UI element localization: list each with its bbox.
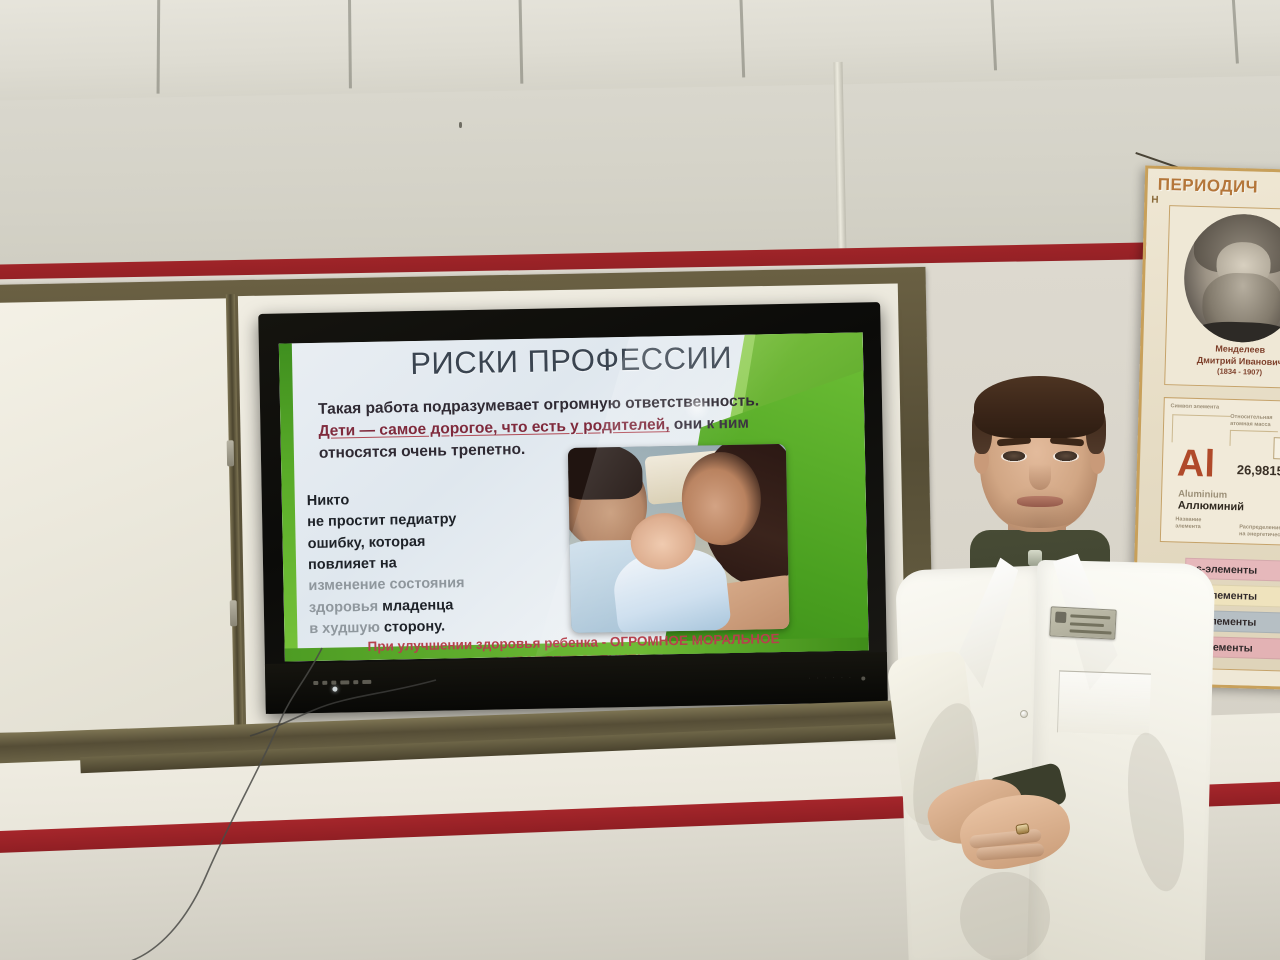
paragraph-highlight: Дети — самое дорогое, что есть у родител… <box>318 416 669 440</box>
left-line-7a: в худшую <box>309 620 384 637</box>
eye-right <box>1053 451 1079 462</box>
poster-title: ПЕРИОДИЧ <box>1157 175 1280 201</box>
name-badge <box>1049 606 1116 639</box>
board-hinge-upper <box>227 440 234 466</box>
paragraph-tail: они к ним <box>669 415 749 434</box>
left-line-6b: младенца <box>382 597 453 614</box>
poster-subtitle: Н <box>1151 195 1159 206</box>
caption-mass: Относительная атомная масса <box>1230 414 1280 431</box>
classroom-scene: РИСКИ ПРОФЕССИИ Такая работа подразумева… <box>0 0 1280 960</box>
wall-mounted-tv[interactable]: РИСКИ ПРОФЕССИИ Такая работа подразумева… <box>258 302 888 714</box>
eye-left <box>1001 451 1027 462</box>
element-atomic-mass: 26,9815 <box>1237 462 1280 478</box>
coat-button-1 <box>1020 710 1028 718</box>
presentation-slide: РИСКИ ПРОФЕССИИ Такая работа подразумева… <box>279 332 869 661</box>
mouth <box>1017 496 1063 507</box>
nose <box>1029 464 1051 490</box>
mendeleev-portrait-box: Менделеев Дмитрий Иванович (1834 - 1907) <box>1164 205 1280 389</box>
caption-config: Распределение электронов на энергетическ… <box>1239 524 1280 541</box>
tv-control-buttons[interactable] <box>313 680 371 685</box>
left-line-6a: здоровья <box>309 598 383 615</box>
coat-breast-pocket <box>1057 670 1151 735</box>
slide-accent-left <box>279 343 298 661</box>
slide-family-photo <box>568 444 790 633</box>
tv-ir-sensor <box>861 676 865 680</box>
tv-screen[interactable]: РИСКИ ПРОФЕССИИ Такая работа подразумева… <box>279 332 869 661</box>
slide-left-text-block: Никто не простит педиатру ошибку, котора… <box>307 487 525 640</box>
tv-power-led <box>332 687 337 692</box>
whiteboard-panel-left[interactable] <box>0 298 240 733</box>
tv-brand-logo: · · · · · · <box>809 675 854 682</box>
left-line-7b: сторону. <box>384 618 445 635</box>
hair <box>974 376 1104 438</box>
wall-mark <box>459 122 462 128</box>
board-hinge-lower <box>230 600 237 626</box>
badge-logo-icon <box>1055 612 1067 624</box>
mendeleev-portrait <box>1182 213 1280 344</box>
paragraph-line-3: относятся очень трепетно. <box>319 441 526 462</box>
person-in-lab-coat <box>900 372 1220 960</box>
element-atomic-number: 13 <box>1273 437 1280 460</box>
